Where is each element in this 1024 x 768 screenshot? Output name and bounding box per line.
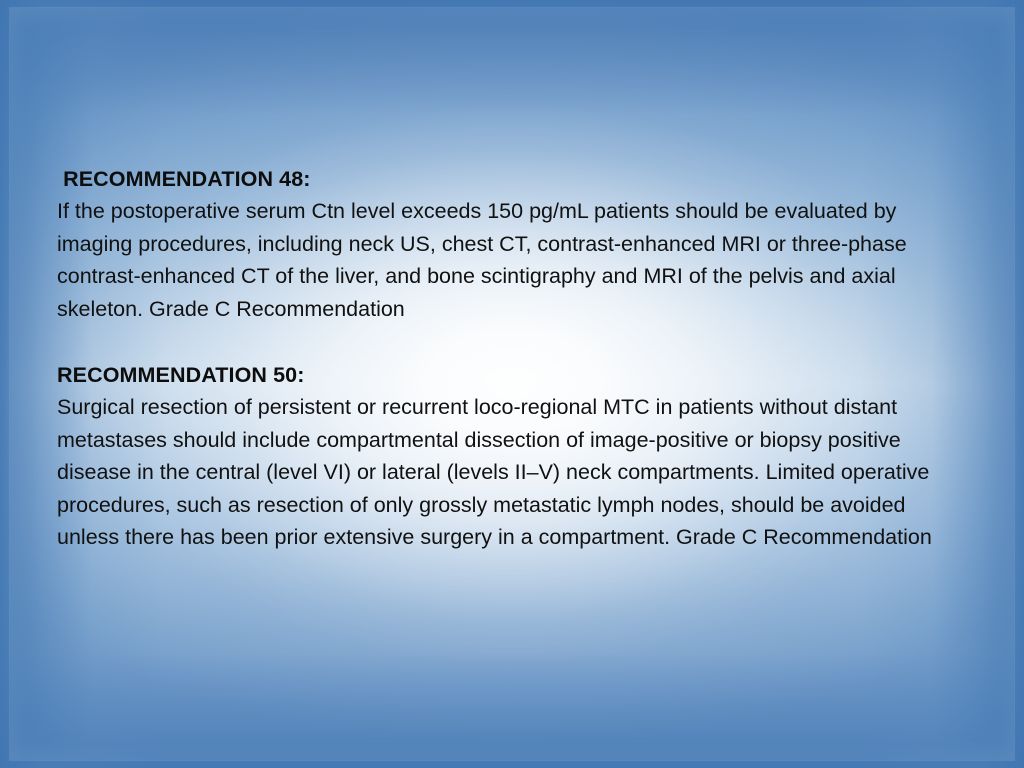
slide: RECOMMENDATION 48: If the postoperative …	[0, 0, 1024, 768]
slide-content: RECOMMENDATION 48: If the postoperative …	[57, 163, 957, 554]
recommendation-50-body: Surgical resection of persistent or recu…	[57, 391, 957, 554]
recommendation-48-title: RECOMMENDATION 48:	[57, 163, 957, 195]
recommendation-48-body: If the postoperative serum Ctn level exc…	[57, 195, 957, 325]
recommendation-50-title: RECOMMENDATION 50:	[57, 359, 957, 391]
recommendation-50-block: RECOMMENDATION 50: Surgical resection of…	[57, 359, 957, 554]
recommendation-48-block: RECOMMENDATION 48: If the postoperative …	[57, 163, 957, 325]
